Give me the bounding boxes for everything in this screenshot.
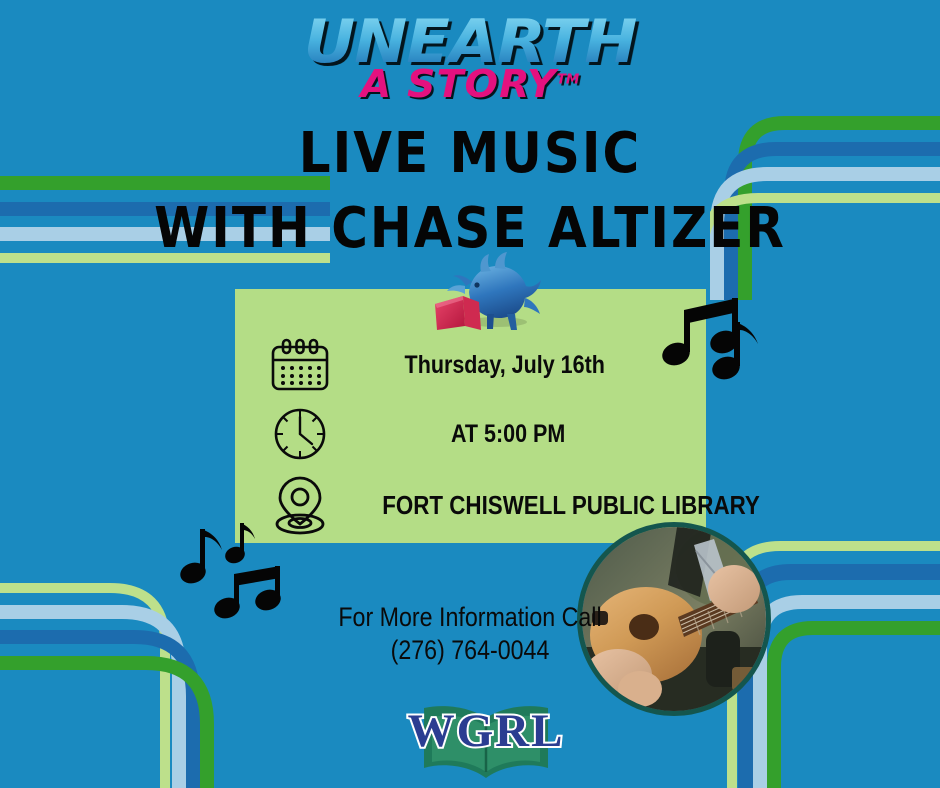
page-subtitle: WITH CHASE ALTIZER bbox=[0, 196, 940, 261]
logo-story-text: A STORY bbox=[361, 62, 557, 106]
music-notes-icon-top-right bbox=[662, 292, 766, 384]
detail-row-date: Thursday, July 16th bbox=[235, 335, 706, 395]
event-location-text: FORT CHISWELL PUBLIC LIBRARY bbox=[365, 490, 760, 521]
detail-row-time: AT 5:00 PM bbox=[235, 404, 706, 464]
flyer-canvas: UNEARTH A STORYTM LIVE MUSIC WITH CHASE … bbox=[0, 0, 940, 788]
calendar-icon bbox=[235, 337, 365, 393]
wgrl-logo-text: WGRL bbox=[404, 704, 568, 758]
logo-line-a-story: A STORYTM bbox=[0, 65, 940, 103]
triceratops-reading-book-icon bbox=[425, 252, 543, 334]
detail-row-location: FORT CHISWELL PUBLIC LIBRARY bbox=[235, 475, 706, 535]
contact-phone-number[interactable]: (276) 764-0044 bbox=[66, 634, 874, 667]
contact-info: For More Information Call (276) 764-0044 bbox=[0, 601, 940, 667]
clock-icon bbox=[235, 405, 365, 463]
unearth-a-story-logo: UNEARTH A STORYTM bbox=[0, 14, 940, 103]
contact-call-label: For More Information Call bbox=[66, 601, 874, 634]
trademark-symbol: TM bbox=[557, 72, 580, 87]
event-date-text: Thursday, July 16th bbox=[365, 351, 658, 380]
event-time-text: AT 5:00 PM bbox=[365, 420, 658, 449]
page-title: LIVE MUSIC bbox=[0, 121, 940, 186]
wgrl-library-logo: WGRL bbox=[404, 696, 568, 782]
